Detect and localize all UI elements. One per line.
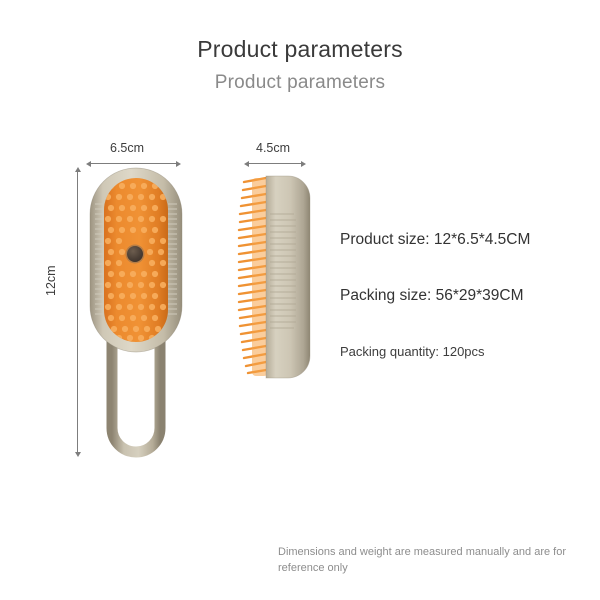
- dimension-label-height: 12cm: [44, 265, 58, 296]
- spec-packing-quantity: Packing quantity: 120pcs: [340, 344, 485, 359]
- dimension-label-width-side: 4.5cm: [256, 141, 290, 155]
- arrow-head-bottom-icon: [75, 452, 81, 457]
- arrow-line: [249, 163, 301, 164]
- product-parameters-page: Product parameters Product parameters 6.…: [0, 0, 600, 600]
- pet-grooming-brush-side-view: [232, 166, 342, 456]
- dimension-label-width-front: 6.5cm: [110, 141, 144, 155]
- brush-body-side: [266, 176, 310, 378]
- dimension-arrow-height: [73, 167, 82, 457]
- pet-grooming-brush-front-view: [84, 166, 188, 458]
- center-hole-icon: [127, 246, 143, 262]
- arrow-line: [77, 172, 78, 452]
- disclaimer-note: Dimensions and weight are measured manua…: [278, 545, 578, 577]
- arrow-line: [91, 163, 176, 164]
- page-title: Product parameters: [0, 36, 600, 63]
- page-subtitle: Product parameters: [0, 72, 600, 94]
- bristles-fill: [252, 178, 268, 376]
- spec-packing-size: Packing size: 56*29*39CM: [340, 287, 524, 305]
- spec-product-size: Product size: 12*6.5*4.5CM: [340, 231, 530, 249]
